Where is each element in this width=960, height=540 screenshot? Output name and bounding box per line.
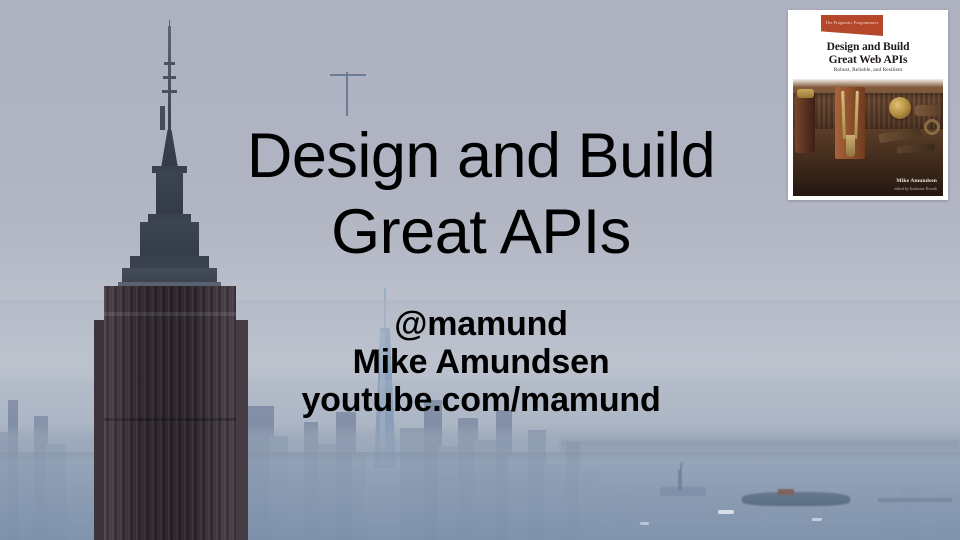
antique-tool bbox=[915, 105, 941, 116]
boat bbox=[718, 510, 734, 514]
esb-antenna-ring bbox=[163, 76, 176, 79]
esb-antenna-ring bbox=[162, 90, 177, 93]
pragmatic-programmers-banner: The Pragmatic Programmers bbox=[821, 15, 883, 36]
presentation-slide: The Pragmatic Programmers Design and Bui… bbox=[0, 0, 960, 540]
crane-mast bbox=[346, 72, 348, 116]
boat bbox=[812, 518, 822, 521]
empire-state-building bbox=[60, 20, 280, 540]
pier bbox=[878, 498, 952, 502]
brass-cap bbox=[797, 89, 814, 98]
ellis-island bbox=[742, 492, 850, 506]
brass-medallion bbox=[889, 97, 911, 119]
presenter-channel: youtube.com/mamund bbox=[0, 381, 960, 419]
slide-subtitle: @mamund Mike Amundsen youtube.com/mamund bbox=[0, 305, 960, 419]
esb-antenna-ring bbox=[164, 62, 175, 65]
presenter-name: Mike Amundsen bbox=[0, 343, 960, 381]
statue-of-liberty-pedestal bbox=[660, 487, 706, 496]
esb-antenna-tip bbox=[169, 20, 170, 34]
book-title: Design and BuildGreat Web APIs bbox=[793, 41, 943, 66]
far-land bbox=[560, 440, 960, 456]
title-line-2: Great APIs bbox=[0, 194, 960, 270]
book-subtitle: Robust, Reliable, and Resilient bbox=[793, 67, 943, 73]
title-line-1: Design and Build bbox=[0, 118, 960, 194]
publisher-name: The Pragmatic Programmers bbox=[825, 21, 878, 26]
crane-jib bbox=[330, 74, 366, 76]
presenter-handle: @mamund bbox=[0, 305, 960, 343]
boat bbox=[640, 522, 649, 525]
ellis-island-building bbox=[778, 489, 794, 495]
slide-title: Design and Build Great APIs bbox=[0, 118, 960, 270]
